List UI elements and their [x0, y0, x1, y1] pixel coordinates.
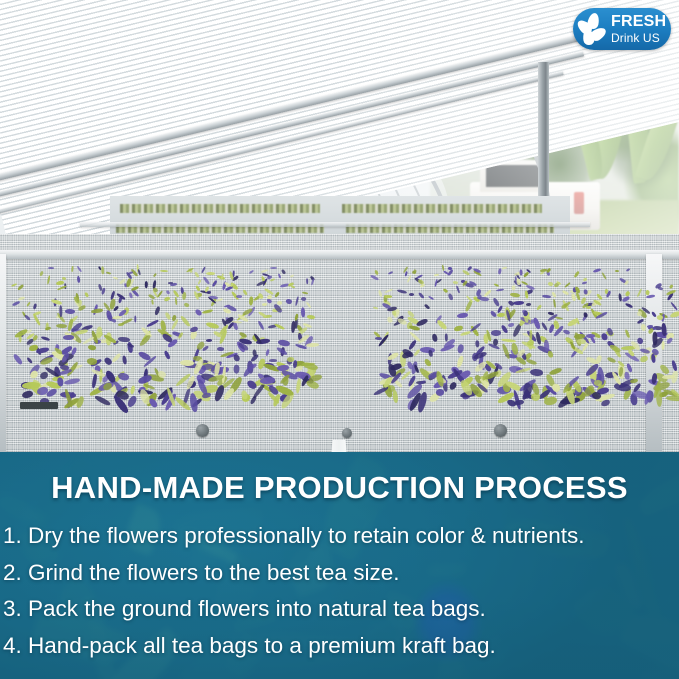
flower-petal: [434, 274, 439, 277]
flower-petal: [424, 358, 432, 367]
flower-petal: [431, 333, 437, 341]
flower-petal: [248, 297, 254, 306]
flower-petal: [626, 268, 630, 271]
flower-petal: [525, 290, 528, 298]
flower-petal: [564, 282, 571, 288]
flower-petal: [539, 272, 544, 276]
flower-petal: [384, 289, 393, 294]
flower-petal: [105, 271, 110, 275]
flower-petal: [300, 296, 306, 302]
flower-petal: [202, 275, 209, 284]
flower-petal: [206, 272, 215, 275]
flower-petal: [264, 287, 274, 295]
flower-petal: [62, 335, 73, 340]
flower-petal: [270, 267, 277, 269]
flower-petal: [306, 277, 308, 283]
flower-petal: [168, 282, 173, 284]
flower-petal: [494, 283, 499, 287]
flower-petal: [56, 280, 64, 285]
flower-petal: [165, 311, 172, 320]
flower-petal: [56, 324, 67, 329]
flower-petal: [160, 270, 168, 273]
tray-rail: [80, 222, 590, 227]
flower-petal: [497, 268, 502, 274]
table-bolt: [342, 428, 352, 438]
flower-petal: [641, 324, 646, 331]
production-process-banner: HAND-MADE PRODUCTION PROCESS 1. Dry the …: [0, 452, 679, 679]
flower-petal: [47, 275, 51, 284]
flower-petal: [629, 378, 637, 383]
logo-line-2: Drink US: [611, 32, 666, 44]
flower-petal: [233, 364, 241, 374]
flower-petal: [45, 327, 52, 331]
flower-petal: [301, 307, 305, 317]
tray-frame-left: [0, 254, 6, 452]
flower-petal: [32, 304, 37, 311]
flower-petal: [77, 265, 82, 272]
flower-petal: [117, 371, 129, 381]
flower-petal: [475, 340, 479, 347]
flower-petal: [584, 312, 588, 317]
flower-petal: [26, 356, 33, 364]
flower-petal: [496, 288, 504, 291]
flower-petal: [510, 292, 520, 298]
flower-petal: [625, 291, 631, 297]
flower-petal: [145, 281, 149, 288]
flower-petal: [535, 331, 541, 344]
flower-petal: [404, 272, 407, 277]
flower-petal: [197, 279, 202, 285]
flower-petal: [457, 313, 468, 319]
page-title: HAND-MADE PRODUCTION PROCESS: [0, 470, 679, 506]
flower-petal: [274, 291, 281, 298]
flower-petal: [526, 358, 538, 366]
flower-petal: [497, 305, 504, 313]
flower-petal: [601, 333, 607, 341]
flower-petal: [464, 300, 473, 312]
table-bolt: [494, 424, 507, 437]
flower-petal: [257, 311, 266, 318]
product-infographic: FRESH Drink US HAND-MADE PRODUCTION PROC…: [0, 0, 679, 679]
flower-petal: [249, 270, 254, 274]
flower-petal: [602, 272, 608, 280]
flower-petal: [551, 291, 556, 298]
flower-petal: [625, 302, 633, 308]
flower-petal: [563, 328, 571, 335]
flower-petal: [453, 280, 458, 284]
flower-petal: [265, 348, 270, 356]
flower-petal: [447, 292, 453, 300]
flower-petal: [41, 335, 50, 341]
flower-petal: [217, 346, 224, 351]
logo-text-block: FRESH Drink US: [611, 14, 666, 44]
flower-petal: [581, 282, 586, 285]
flower-petal: [547, 281, 553, 287]
flower-petal: [525, 303, 531, 307]
flower-petal: [290, 275, 294, 278]
flower-cluster-left: [10, 266, 310, 401]
flower-petal: [508, 323, 514, 327]
tray-frame-top: [0, 250, 679, 259]
flower-petal: [129, 385, 135, 395]
flower-petal: [166, 290, 170, 295]
flower-petal: [57, 378, 63, 387]
banner-content: HAND-MADE PRODUCTION PROCESS 1. Dry the …: [0, 452, 679, 679]
flower-petal: [483, 290, 491, 298]
flower-petal: [87, 344, 96, 351]
flower-petal: [157, 290, 164, 298]
flower-petal: [91, 309, 103, 314]
flower-petal: [153, 273, 157, 278]
flower-petal: [536, 304, 542, 310]
list-item: 4. Hand-pack all tea bags to a premium k…: [3, 628, 679, 665]
flower-petal: [102, 266, 105, 274]
flower-petal: [39, 356, 53, 365]
flower-petal: [455, 355, 464, 368]
flower-petal: [646, 295, 655, 299]
flower-petal: [544, 339, 549, 351]
flower-petal: [154, 306, 161, 315]
flower-petal: [134, 315, 137, 322]
flower-petal: [183, 302, 190, 309]
flower-petal: [280, 269, 285, 275]
flower-petal: [513, 300, 524, 304]
flower-petal: [258, 320, 265, 331]
flower-petal: [206, 321, 220, 329]
flower-petal: [13, 353, 24, 366]
flower-petal: [48, 267, 54, 269]
flower-petal: [541, 321, 548, 330]
process-step-list: 1. Dry the flowers professionally to ret…: [3, 518, 679, 664]
flower-petal: [615, 270, 619, 272]
flower-petal: [566, 317, 579, 327]
flower-petal: [553, 320, 560, 329]
flower-petal: [202, 309, 214, 315]
flower-petal: [460, 330, 472, 336]
flower-petal: [71, 266, 73, 273]
flower-petal: [180, 315, 191, 327]
fresh-drink-us-logo[interactable]: FRESH Drink US: [573, 8, 671, 50]
flower-petal: [267, 294, 273, 299]
flower-petal: [406, 361, 413, 370]
flower-petal: [593, 268, 602, 273]
flower-petal: [11, 301, 20, 306]
flower-petal: [29, 344, 38, 351]
flower-petal: [582, 277, 587, 281]
flower-petal: [573, 270, 579, 277]
flower-petal: [656, 387, 662, 407]
list-item: 1. Dry the flowers professionally to ret…: [3, 518, 679, 555]
flower-petal: [285, 298, 293, 305]
flower-petal: [274, 322, 285, 329]
table-bolt: [196, 424, 209, 437]
flower-petal: [295, 378, 302, 393]
flower-petal: [455, 285, 460, 293]
flower-petal: [175, 297, 178, 305]
flower-petal: [61, 276, 66, 281]
flower-petal: [39, 270, 44, 276]
flower-petal: [146, 319, 159, 327]
flower-petal: [64, 308, 75, 314]
flower-petal: [408, 292, 413, 295]
flower-petal: [233, 354, 240, 362]
flower-petal: [122, 355, 127, 365]
tray-latch: [20, 402, 58, 409]
flower-petal: [491, 330, 502, 336]
flower-petal: [372, 306, 378, 310]
background-tray-row: [120, 204, 320, 213]
flower-petal: [194, 272, 199, 278]
flower-petal: [443, 288, 448, 293]
flower-petal: [548, 350, 554, 358]
flower-petal: [40, 371, 49, 379]
flower-petal: [542, 294, 552, 299]
flower-petal: [428, 295, 434, 300]
flower-petal: [17, 284, 24, 290]
flower-petal: [278, 339, 291, 347]
flower-petal: [625, 328, 631, 337]
flower-petal: [118, 336, 131, 343]
flower-petal: [415, 317, 428, 326]
flower-petal: [407, 339, 417, 350]
flower-petal: [411, 270, 416, 274]
flower-petal: [121, 318, 133, 326]
flower-petal: [301, 291, 307, 295]
logo-line-1: FRESH: [611, 14, 666, 30]
flower-petal: [24, 313, 31, 320]
flower-petal: [521, 280, 528, 285]
flower-petal: [270, 278, 275, 281]
flower-petal: [501, 266, 506, 269]
flower-petal: [456, 343, 464, 353]
flower-petal: [552, 299, 555, 308]
flower-petal: [466, 266, 471, 271]
flower-petal: [639, 355, 648, 363]
background-tray-row: [342, 204, 542, 213]
flower-petal: [27, 301, 32, 307]
flower-petal: [407, 274, 412, 282]
flower-petal: [436, 279, 442, 284]
flower-petal: [492, 297, 499, 306]
flower-petal: [21, 391, 33, 399]
flower-petal: [182, 292, 187, 301]
flower-petal: [112, 276, 117, 279]
flower-petal: [378, 289, 382, 296]
flower-petal: [22, 382, 40, 389]
flower-petal: [441, 264, 444, 271]
flower-petal: [295, 296, 300, 306]
flower-petal: [11, 283, 18, 287]
flower-petal: [393, 389, 399, 402]
flower-petal: [507, 300, 514, 307]
flower-petal: [413, 349, 421, 357]
list-item: 3. Pack the ground flowers into natural …: [3, 591, 679, 628]
flower-petal: [196, 284, 201, 291]
flower-petal: [290, 321, 295, 334]
flower-petal: [164, 296, 171, 301]
flower-leaves-icon: [579, 14, 609, 44]
flower-petal: [206, 339, 212, 342]
flower-petal: [530, 368, 544, 377]
flower-petal: [562, 290, 569, 296]
flower-petal: [623, 371, 629, 379]
flower-petal: [453, 326, 462, 333]
flower-petal: [164, 350, 171, 359]
flower-petal: [447, 266, 452, 269]
flower-petal: [637, 289, 643, 298]
flower-petal: [307, 314, 315, 319]
flower-petal: [448, 381, 458, 391]
flower-petal: [374, 270, 378, 276]
flower-petal: [252, 349, 256, 356]
drying-table: [0, 196, 679, 452]
flower-petal: [111, 353, 121, 363]
flower-petal: [242, 289, 248, 296]
flower-petal: [607, 357, 617, 365]
flower-petal: [84, 292, 89, 298]
flower-petal: [262, 303, 268, 307]
flower-petal: [151, 300, 154, 305]
flower-petal: [576, 338, 585, 344]
flower-petal: [386, 316, 392, 323]
flower-petal: [222, 387, 236, 402]
flower-petal: [59, 306, 62, 318]
flower-petal: [276, 300, 282, 305]
flower-petal: [388, 271, 393, 274]
flower-petal: [260, 376, 275, 383]
list-item: 2. Grind the flowers to the best tea siz…: [3, 555, 679, 592]
flower-petal: [510, 285, 515, 291]
flower-petal: [63, 378, 80, 386]
flower-petal: [424, 303, 430, 309]
flower-petal: [77, 276, 80, 283]
flower-petal: [428, 349, 433, 356]
flower-petal: [436, 319, 447, 331]
greenhouse-flower-drying-photo: FRESH Drink US: [0, 0, 679, 452]
flower-petal: [278, 273, 282, 278]
flower-petal: [418, 291, 424, 298]
flower-petal: [487, 343, 500, 351]
flower-petal: [661, 323, 666, 336]
flower-petal: [397, 289, 407, 294]
flower-petal: [516, 278, 520, 285]
flower-petal: [661, 341, 665, 350]
flower-cluster-right: [370, 266, 670, 401]
flower-petal: [32, 313, 41, 326]
flower-petal: [370, 274, 379, 281]
